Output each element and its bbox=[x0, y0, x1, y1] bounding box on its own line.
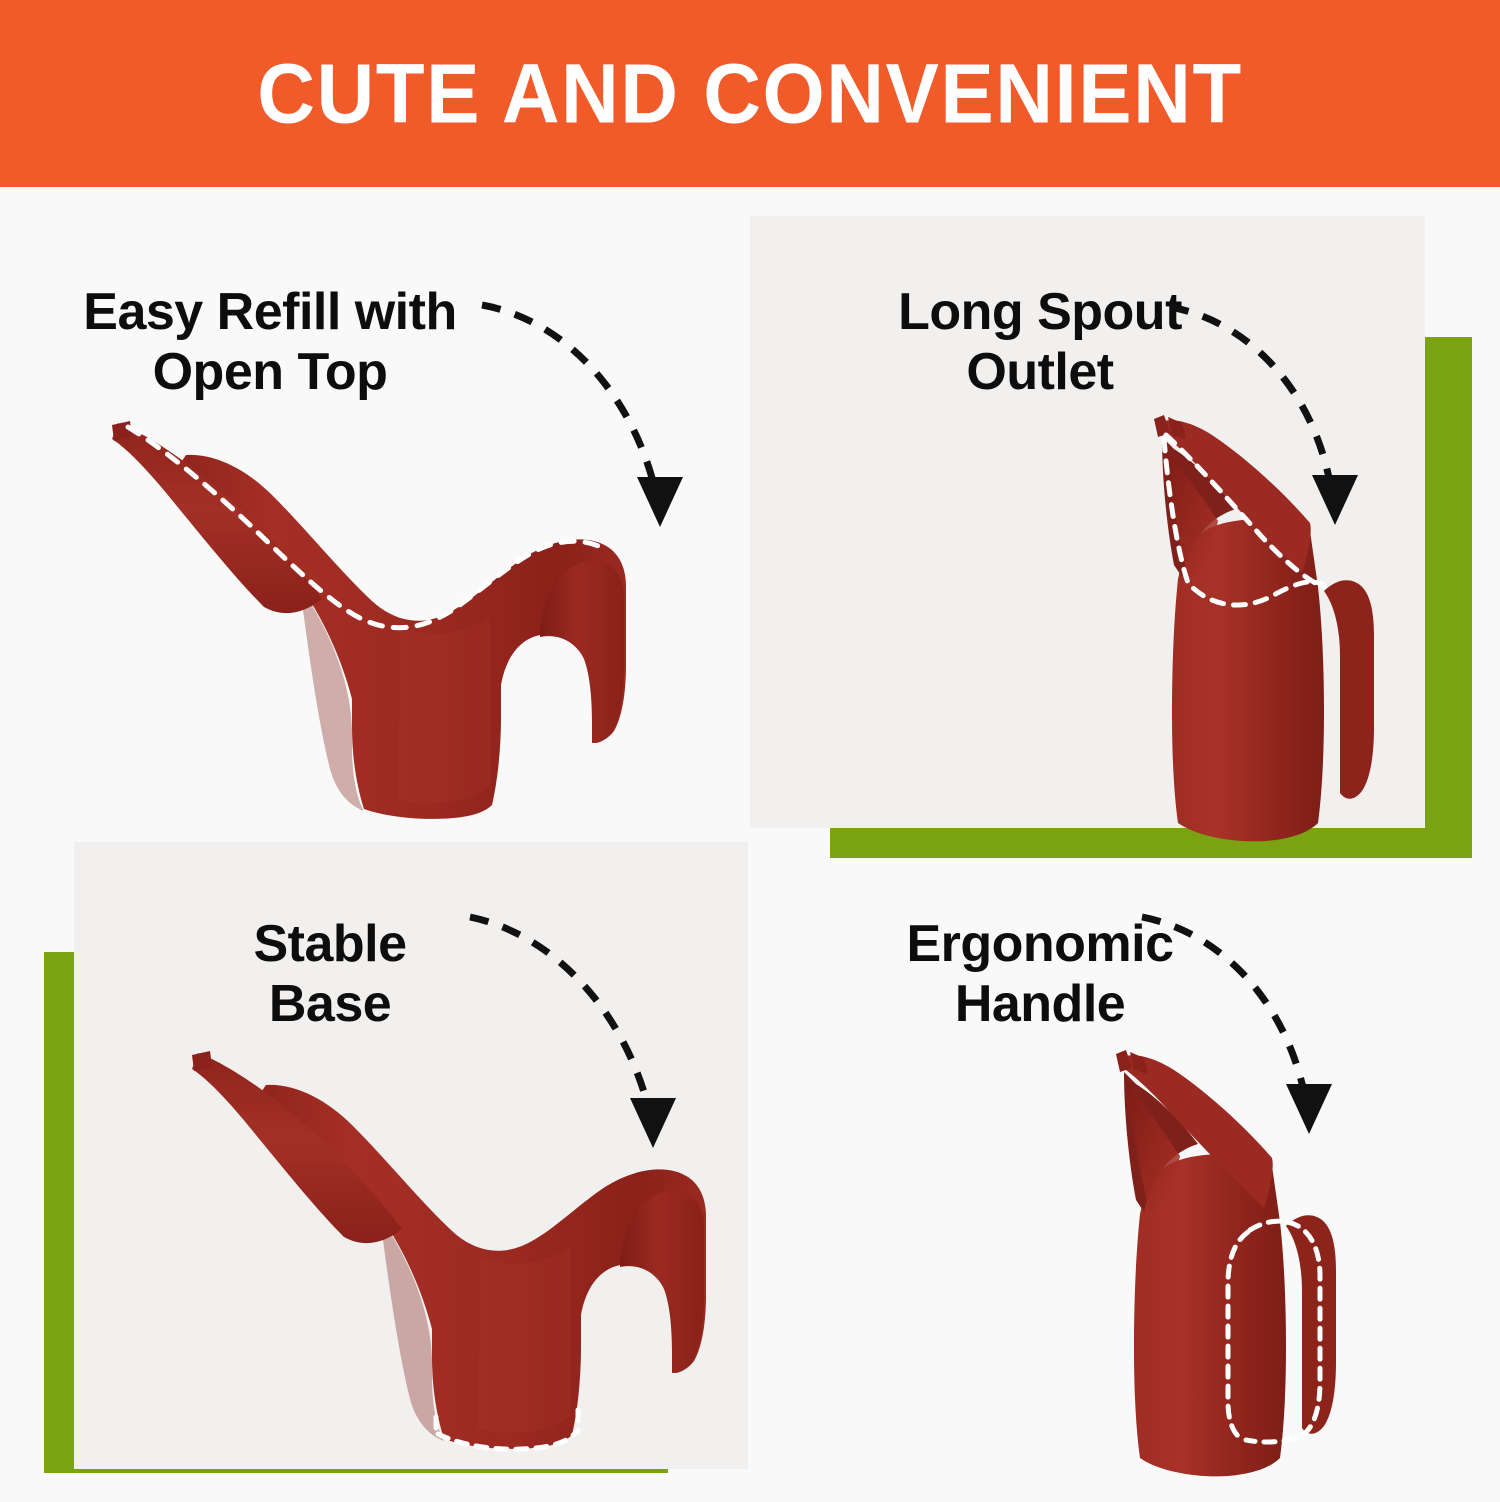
feature-panel-long-spout: Long Spout Outlet bbox=[750, 187, 1500, 842]
feature-panel-stable-base: Stable Base bbox=[0, 842, 750, 1500]
feature-panel-ergonomic-handle: Ergonomic Handle bbox=[750, 842, 1500, 1500]
page-title: CUTE AND CONVENIENT bbox=[257, 51, 1243, 136]
feature-panels-grid: Easy Refill with Open Top bbox=[0, 187, 1500, 1500]
pointer-arrow-easy-refill bbox=[0, 187, 750, 847]
pointer-arrow-stable-base bbox=[0, 842, 750, 1502]
feature-panel-easy-refill: Easy Refill with Open Top bbox=[0, 187, 750, 842]
pointer-arrow-long-spout bbox=[750, 187, 1500, 847]
header-banner: CUTE AND CONVENIENT bbox=[0, 0, 1500, 187]
pointer-arrow-ergonomic-handle bbox=[750, 842, 1500, 1502]
